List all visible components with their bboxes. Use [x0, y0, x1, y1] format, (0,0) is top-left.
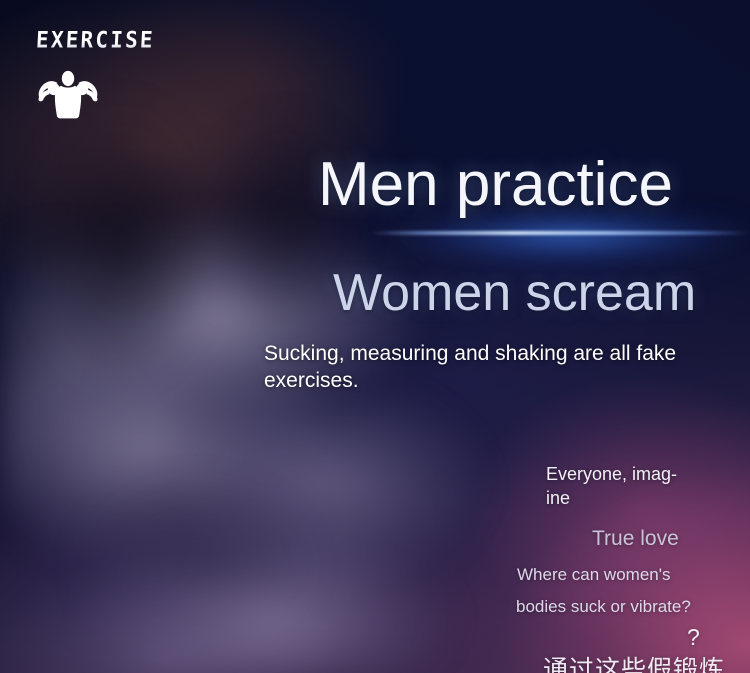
- brand-logo: EXERCISE: [36, 30, 155, 124]
- subtitle-text: Sucking, measuring and shaking are all f…: [264, 340, 704, 395]
- bodybuilder-flex-icon: [37, 69, 99, 124]
- side-text-everyone-imagine: Everyone, imag- ine: [546, 463, 726, 511]
- side-text-question-line1: Where can women's: [517, 565, 670, 585]
- poster-canvas: EXERCISE: [0, 0, 750, 673]
- brand-wordmark: EXERCISE: [35, 29, 155, 52]
- side-text-true-love: True love: [592, 526, 679, 551]
- chinese-caption-cropped: 通过这些假锻炼: [543, 655, 725, 673]
- headline-secondary: Women scream: [333, 266, 696, 321]
- headline-primary: Men practice: [318, 152, 673, 218]
- side-text-question-line2: bodies suck or vibrate?: [516, 597, 691, 617]
- question-mark-glyph: ?: [687, 626, 700, 649]
